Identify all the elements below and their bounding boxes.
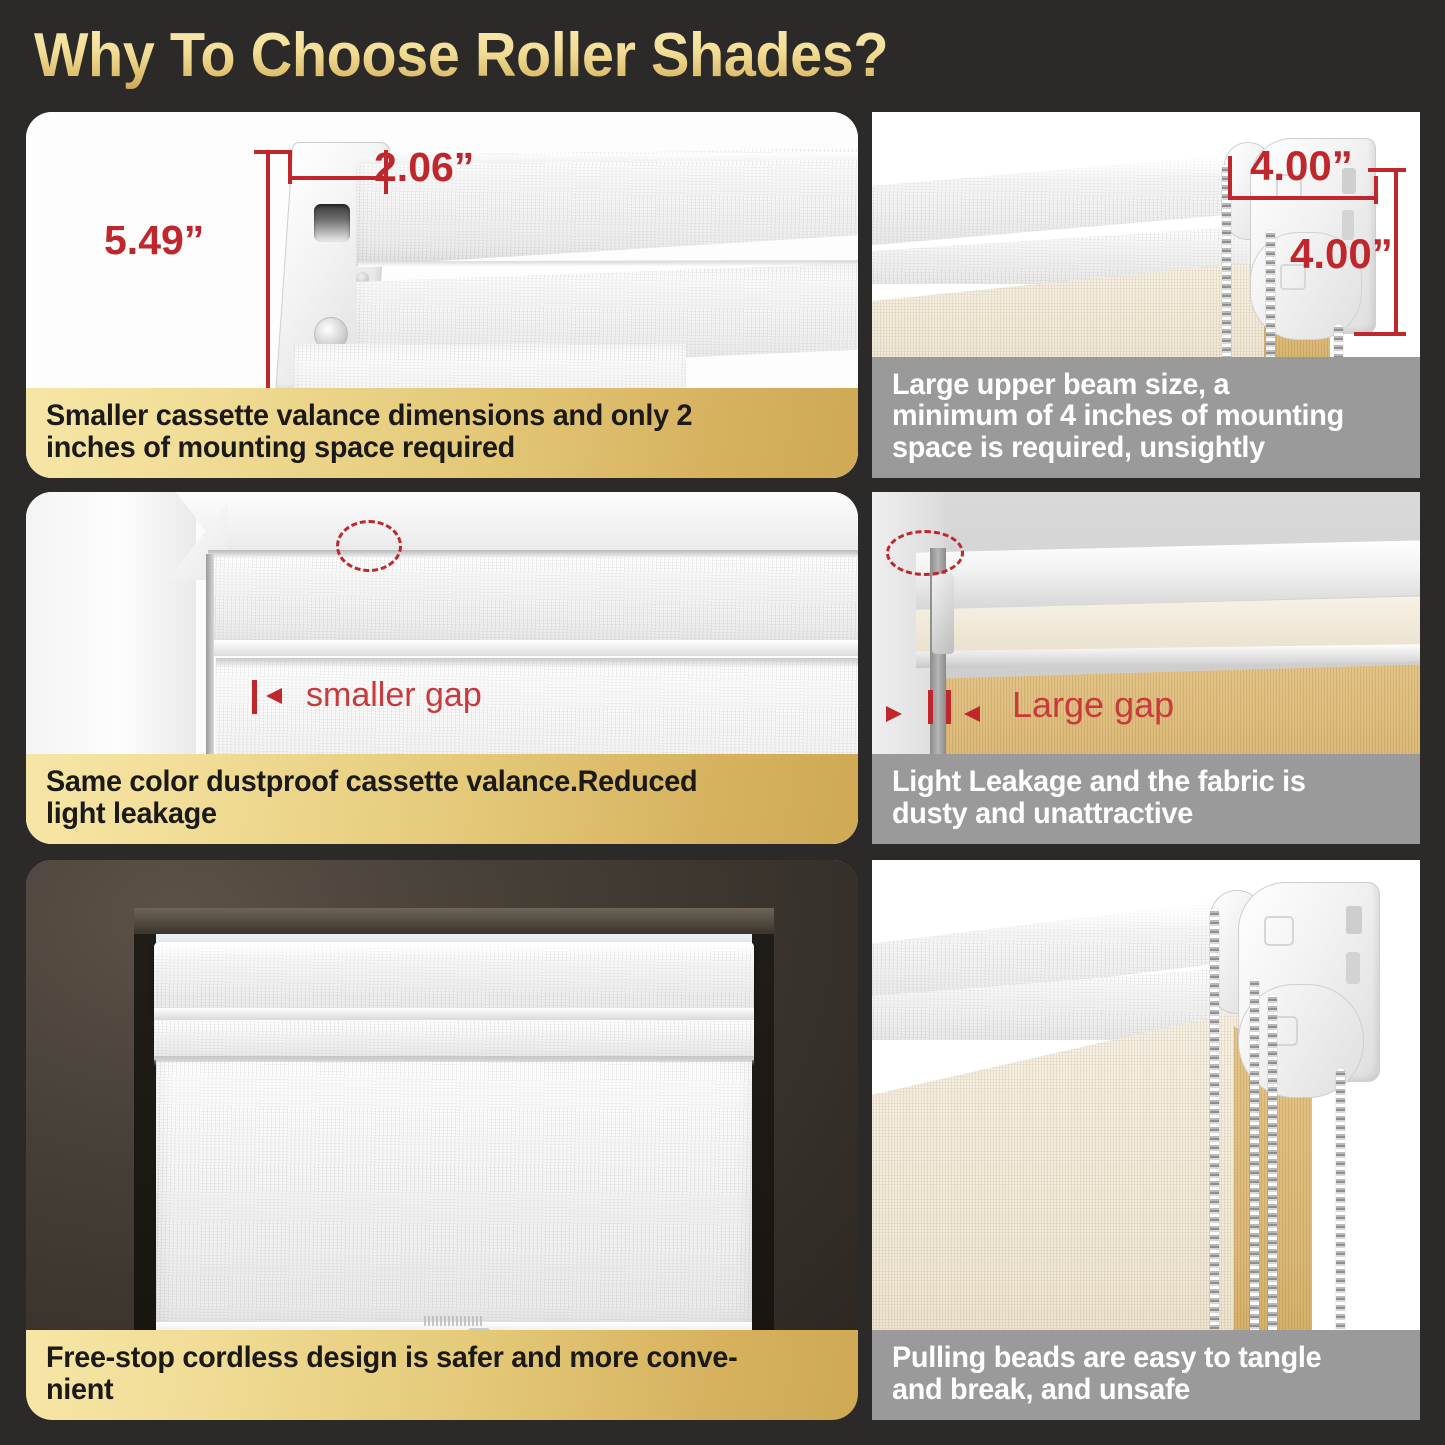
panel-con-beam-size: 4.00” 4.00” Large upper beam size, a min…	[872, 112, 1420, 478]
gap-label: Large gap	[1012, 684, 1174, 726]
caption-line: inches of mounting space required	[46, 432, 808, 464]
bracket-notch-upper	[1346, 906, 1362, 934]
headrail-top-gloss	[154, 942, 754, 958]
window-recess-top-lip	[134, 908, 774, 934]
dimension-tick-top-con	[1368, 168, 1406, 172]
panel-pro-cassette-size: 2.06” 5.49” Smaller cassette valance dim…	[26, 112, 858, 478]
dimension-label-width: 2.06”	[374, 144, 474, 191]
gap-marker-a	[928, 690, 933, 724]
bracket-notch-lower	[1346, 952, 1360, 984]
shade-brand-tag	[424, 1316, 484, 1326]
caption-line: dusty and unattractive	[892, 798, 1382, 830]
caption-line: and break, and unsafe	[892, 1374, 1382, 1406]
gap-arrow-left	[886, 706, 902, 722]
valance-top-edge	[208, 550, 858, 558]
caption-pro-dustproof-valance: Same color dustproof cassette valance.Re…	[26, 754, 858, 844]
gap-label: smaller gap	[306, 676, 482, 715]
dimension-label-width-con: 4.00”	[1250, 142, 1353, 190]
caption-pro-cassette-size: Smaller cassette valance dimensions and …	[26, 388, 858, 478]
dimension-line-height-con	[1394, 170, 1398, 336]
valance-second-band	[154, 1020, 754, 1060]
dimension-label-height: 5.49”	[104, 217, 204, 264]
gap-arrow-right	[266, 688, 282, 704]
shade-fabric-main	[156, 1062, 752, 1336]
caption-line: space is required, unsightly	[892, 432, 1382, 464]
caption-con-beam-size: Large upper beam size, a minimum of 4 in…	[872, 357, 1420, 478]
gap-marker-b	[946, 690, 951, 724]
panel-pro-cordless: Free-stop cordless design is safer and m…	[26, 860, 858, 1420]
caption-line: nient	[46, 1374, 808, 1406]
infographic-root: Why To Choose Roller Shades? 2.06”	[0, 0, 1445, 1445]
panel-con-pulling-beads: Pulling beads are easy to tangle and bre…	[872, 860, 1420, 1420]
caption-line: minimum of 4 inches of mounting	[892, 400, 1382, 432]
gap-marker	[252, 680, 257, 714]
dimension-label-height-con: 4.00”	[1290, 230, 1393, 278]
highlight-circle	[336, 520, 402, 572]
dimension-tick-height-top	[254, 150, 290, 154]
caption-line: Pulling beads are easy to tangle	[892, 1342, 1382, 1374]
bracket-emblem-upper	[1264, 916, 1294, 946]
dimension-tick-left-con	[1228, 156, 1232, 200]
caption-pro-cordless: Free-stop cordless design is safer and m…	[26, 1330, 858, 1420]
page-title: Why To Choose Roller Shades?	[34, 20, 888, 91]
highlight-circle	[886, 530, 964, 576]
caption-line: Large upper beam size, a	[892, 369, 1382, 401]
bracket-slot-upper	[314, 204, 350, 242]
cassette-valance-front	[208, 554, 858, 648]
caption-line: Same color dustproof cassette valance.Re…	[46, 766, 808, 798]
dimension-tick-right-con	[1374, 176, 1378, 204]
panel-con-light-leakage: Large gap Light Leakage and the fabric i…	[872, 492, 1420, 844]
caption-line: Light Leakage and the fabric is	[892, 766, 1382, 798]
caption-line: Smaller cassette valance dimensions and …	[46, 400, 808, 432]
caption-line: light leakage	[46, 798, 808, 830]
caption-con-pulling-beads: Pulling beads are easy to tangle and bre…	[872, 1330, 1420, 1420]
caption-line: Free-stop cordless design is safer and m…	[46, 1342, 808, 1374]
dimension-tick-bottom-con	[1354, 332, 1406, 336]
caption-con-light-leakage: Light Leakage and the fabric is dusty an…	[872, 754, 1420, 844]
panel-pro-dustproof-valance: smaller gap Same color dustproof cassett…	[26, 492, 858, 844]
gap-arrow-right	[964, 706, 980, 722]
dimension-tick-width-left	[288, 150, 292, 184]
bracket-clip	[932, 574, 954, 654]
dimension-line-height	[266, 152, 270, 428]
dimension-line-width-con	[1230, 196, 1378, 200]
valance-bottom-lip	[208, 640, 858, 656]
shade-roller-shadow	[216, 658, 858, 668]
